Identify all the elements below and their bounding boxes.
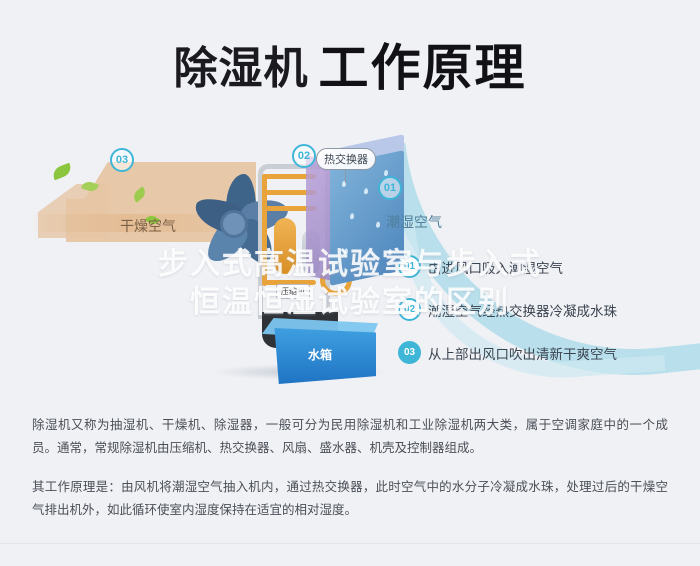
- process-step-list: 01 由进风口吸入潮湿空气 02 潮湿空气经热交换器冷凝成水珠 03 从上部出风…: [398, 255, 686, 384]
- heat-exchanger-callout: 热交换器: [316, 148, 376, 170]
- process-step: 01 由进风口吸入潮湿空气: [398, 255, 686, 278]
- description-paragraph-1: 除湿机又称为抽湿机、干燥机、除湿器，一般可分为民用除湿机和工业除湿机两大类，属于…: [32, 414, 668, 460]
- description-block: 除湿机又称为抽湿机、干燥机、除湿器，一般可分为民用除湿机和工业除湿机两大类，属于…: [32, 414, 668, 538]
- step-text: 从上部出风口吹出清新干爽空气: [428, 343, 617, 363]
- process-step: 03 从上部出风口吹出清新干爽空气: [398, 341, 686, 364]
- diagram-badge-03: 03: [110, 148, 134, 172]
- heat-exchanger-side: [306, 155, 332, 281]
- diagram-badge-01: 01: [378, 176, 402, 200]
- step-text: 由进风口吸入潮湿空气: [428, 257, 563, 277]
- bottom-divider: [0, 543, 700, 544]
- diagram-label-humid-air: 潮湿空气: [386, 212, 442, 232]
- description-paragraph-2: 其工作原理是：由风机将潮湿空气抽入机内，通过热交换器，此时空气中的水分子冷凝成水…: [32, 476, 668, 522]
- step-number: 03: [398, 341, 421, 364]
- step-number: 01: [398, 255, 421, 278]
- step-text: 潮湿空气经热交换器冷凝成水珠: [428, 300, 617, 320]
- step-number: 02: [398, 298, 421, 321]
- process-step: 02 潮湿空气经热交换器冷凝成水珠: [398, 298, 686, 321]
- title-part-2: 工作原理: [319, 40, 527, 96]
- diagram-label-dry-air: 干燥空气: [120, 216, 176, 236]
- compressor-label: 压缩机: [276, 284, 310, 299]
- infographic-page: 除湿机工作原理: [0, 0, 700, 566]
- diagram-badge-02: 02: [292, 144, 316, 168]
- leaf-icon: [51, 163, 74, 181]
- page-title: 除湿机工作原理: [0, 28, 700, 100]
- title-part-1: 除湿机: [174, 44, 309, 93]
- water-tank-label: 水箱: [308, 346, 332, 363]
